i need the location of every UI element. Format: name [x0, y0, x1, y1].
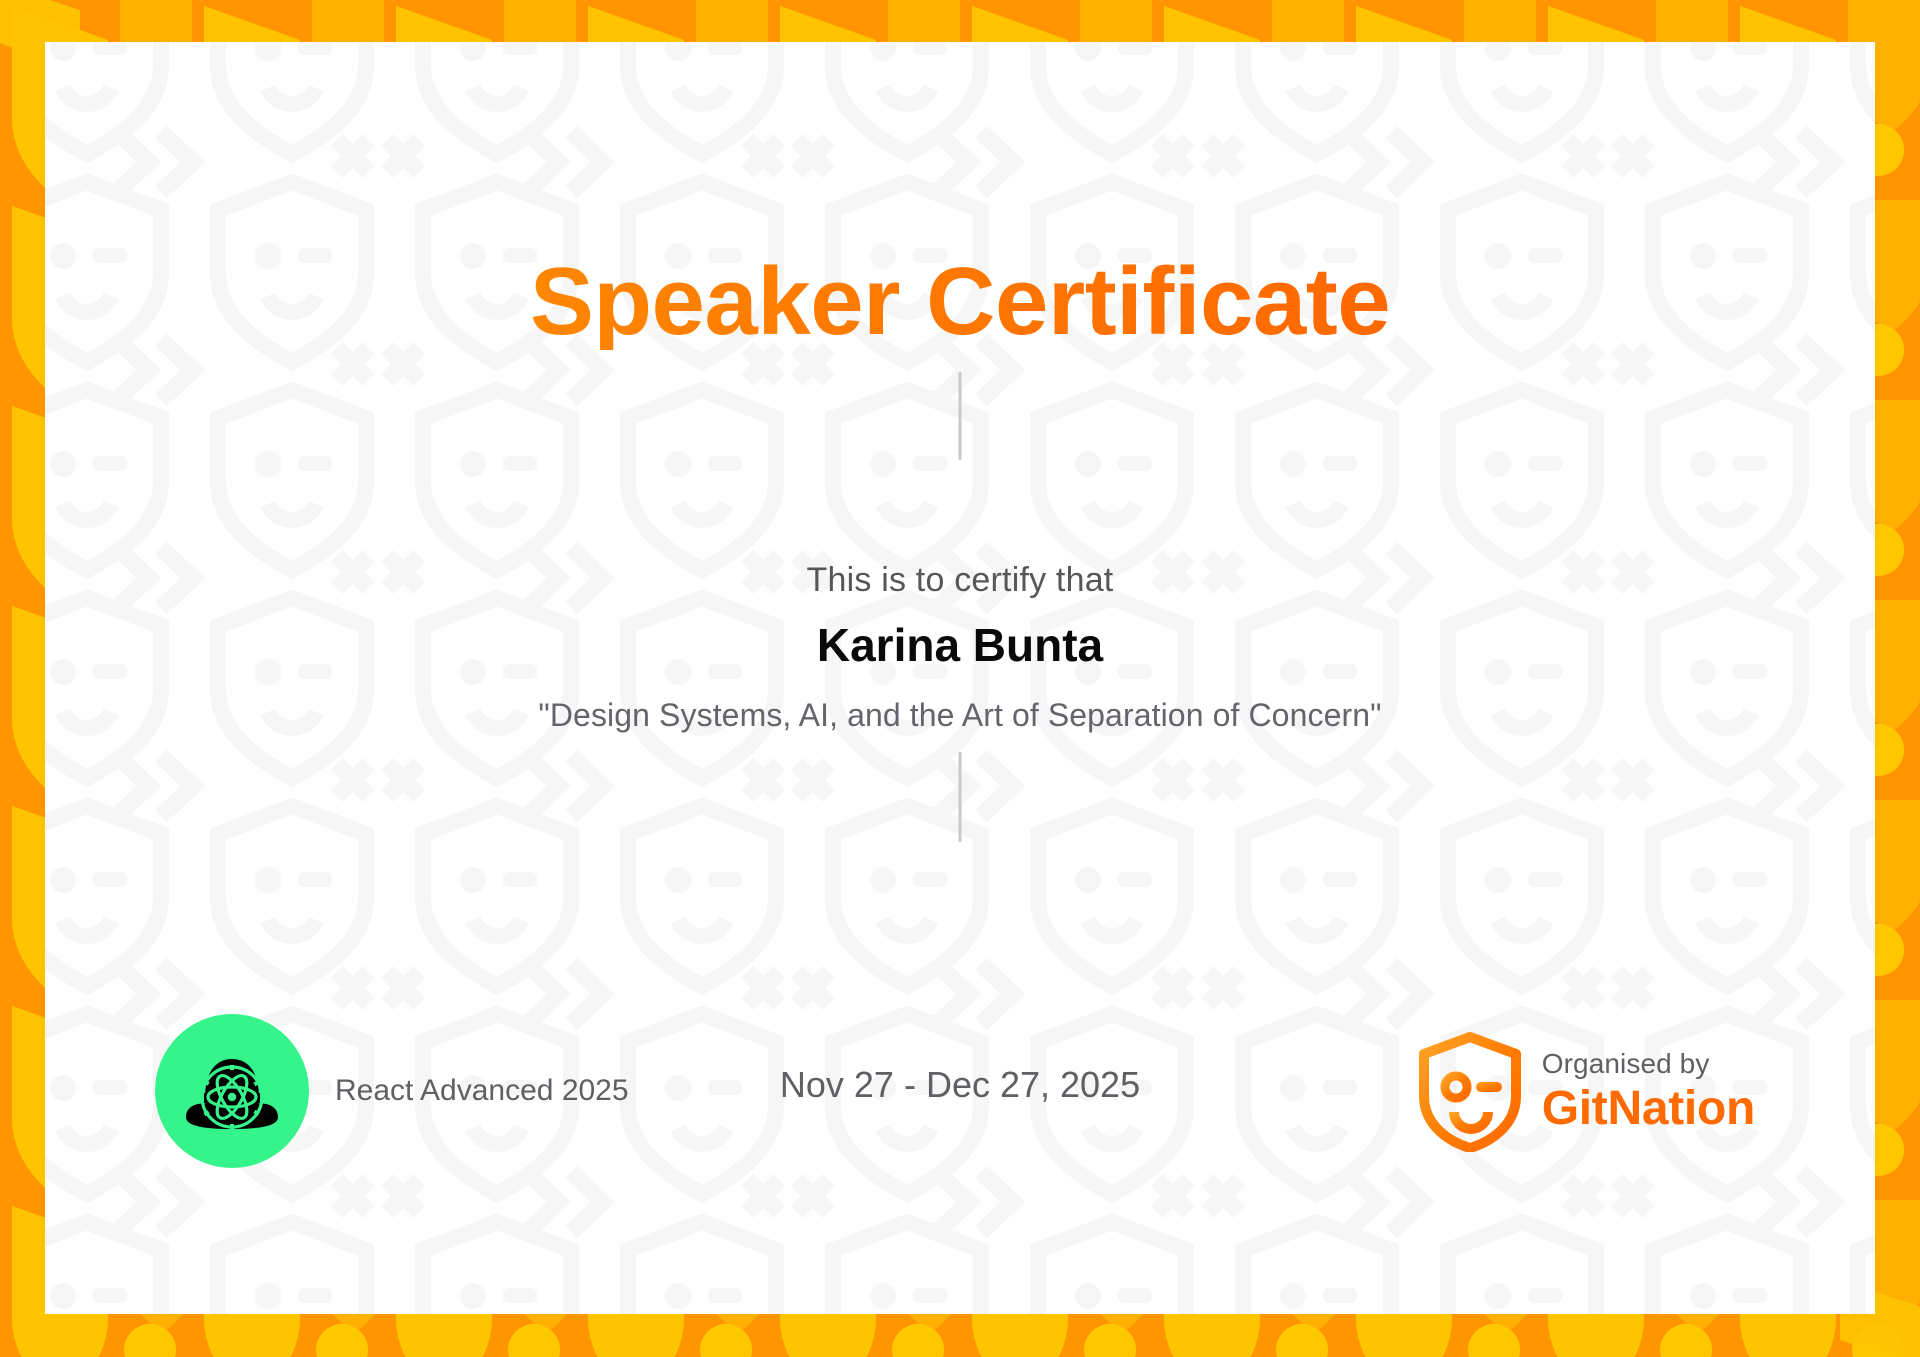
gitnation-shield-face-icon: [1416, 1032, 1524, 1152]
speaker-certificate: Speaker Certificate This is to certify t…: [0, 0, 1920, 1357]
organiser-text: Organised by GitNation: [1542, 1048, 1755, 1135]
organised-by-label: Organised by: [1542, 1048, 1755, 1080]
certificate-footer: React Advanced 2025 Nov 27 - Dec 27, 202…: [45, 1002, 1875, 1202]
event-block: React Advanced 2025: [155, 1014, 629, 1168]
page-title: Speaker Certificate: [45, 254, 1875, 350]
react-bowler-hat-icon: [155, 1014, 309, 1168]
talk-title: "Design Systems, AI, and the Art of Sepa…: [45, 697, 1875, 734]
event-name: React Advanced 2025: [335, 1074, 629, 1108]
event-dates: Nov 27 - Dec 27, 2025: [780, 1064, 1140, 1106]
organiser-name: GitNation: [1542, 1081, 1755, 1136]
certify-line: This is to certify that: [45, 561, 1875, 600]
organiser-block: Organised by GitNation: [1416, 1032, 1755, 1152]
recipient-name: Karina Bunta: [45, 618, 1875, 672]
divider-bottom: [959, 752, 962, 842]
certificate-card: Speaker Certificate This is to certify t…: [45, 42, 1875, 1314]
divider-top: [959, 372, 962, 460]
